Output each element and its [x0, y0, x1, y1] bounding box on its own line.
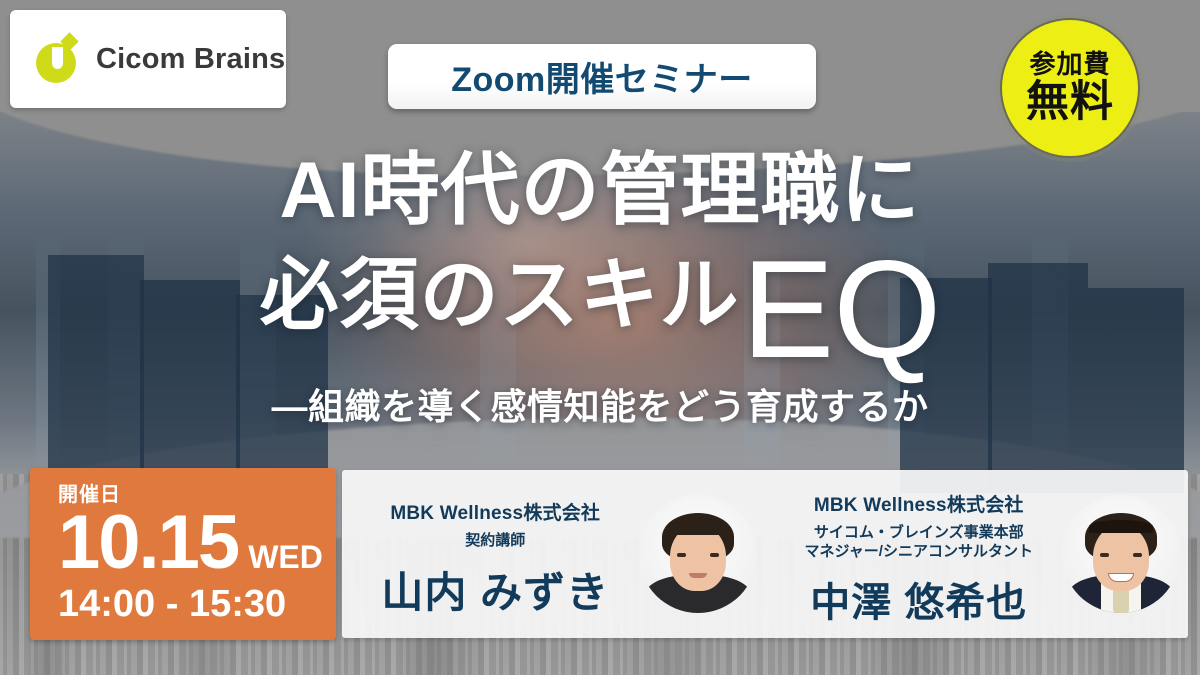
- brand-logo-text: Cicom Brains: [96, 43, 285, 76]
- zoom-seminar-badge: Zoom開催セミナー: [388, 44, 816, 109]
- speaker-info: MBK Wellness株式会社 サイコム・ブレインズ事業本部 マネジャー/シニ…: [766, 480, 1063, 628]
- cicom-c-mark-icon: [36, 35, 82, 83]
- headline-line-2: 必須のスキル EQ: [0, 239, 1200, 353]
- brand-logo-card: Cicom Brains: [10, 10, 286, 108]
- headline-subtitle: ―組織を導く感情知能をどう育成するか: [0, 378, 1200, 430]
- speaker-name: 山内 みずき: [352, 559, 639, 620]
- event-date-value: 10.15: [58, 505, 238, 581]
- headline-block: AI時代の管理職に 必須のスキル EQ: [0, 150, 1200, 353]
- speaker-info: MBK Wellness株式会社 契約講師 山内 みずき: [342, 488, 639, 620]
- event-time-range: 14:00 - 15:30: [58, 583, 336, 626]
- free-admission-badge: 参加費 無料: [1000, 18, 1140, 158]
- speaker-role-line-1: サイコム・ブレインズ事業本部: [776, 524, 1063, 543]
- speaker-card: MBK Wellness株式会社 契約講師 山内 みずき: [342, 470, 765, 638]
- speaker-company: MBK Wellness株式会社: [352, 498, 639, 525]
- speaker-company: MBK Wellness株式会社: [776, 490, 1063, 517]
- speaker-photo-nakazawa: [1062, 495, 1180, 613]
- speakers-panel: MBK Wellness株式会社 契約講師 山内 みずき MBK Wellnes…: [342, 470, 1188, 638]
- headline-line-2-prefix: 必須のスキル: [260, 255, 740, 336]
- event-weekday: WED: [248, 539, 323, 576]
- zoom-seminar-badge-label: Zoom開催セミナー: [451, 52, 753, 101]
- headline-emphasis-eq: EQ: [742, 253, 941, 367]
- headline-line-1: AI時代の管理職に: [0, 150, 1200, 231]
- speaker-name: 中澤 悠希也: [776, 570, 1063, 628]
- free-badge-line1: 参加費: [1029, 51, 1110, 77]
- speaker-photo-yamauchi: [639, 495, 757, 613]
- free-badge-line2: 無料: [1026, 80, 1114, 125]
- speaker-role: 契約講師: [352, 532, 639, 551]
- speaker-card: MBK Wellness株式会社 サイコム・ブレインズ事業本部 マネジャー/シニ…: [766, 470, 1189, 638]
- event-date-main: 10.15 WED: [58, 505, 336, 581]
- seminar-banner: Cicom Brains Zoom開催セミナー 参加費 無料 AI時代の管理職に…: [0, 0, 1200, 675]
- speaker-role-line-2: マネジャー/シニアコンサルタント: [776, 543, 1063, 562]
- event-date-block: 開催日 10.15 WED 14:00 - 15:30: [30, 468, 336, 640]
- speaker-role: サイコム・ブレインズ事業本部 マネジャー/シニアコンサルタント: [776, 524, 1063, 562]
